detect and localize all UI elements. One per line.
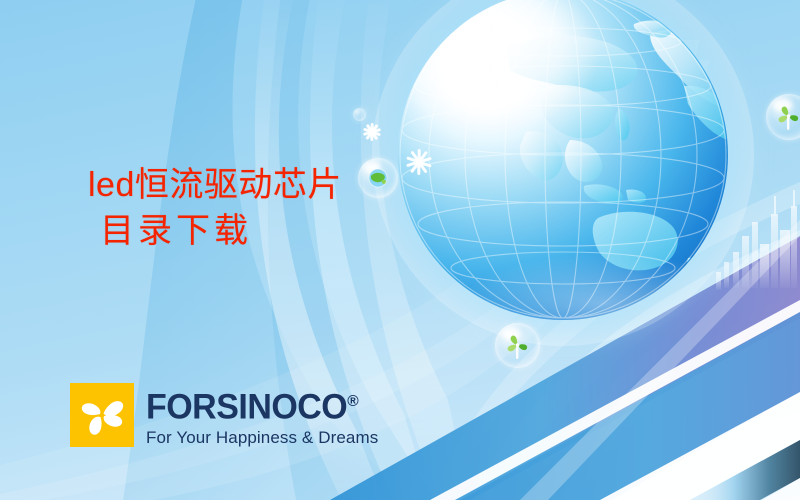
registered-mark: ® [347,393,358,410]
bubble-with-windmill-icon [495,323,540,368]
company-logo[interactable]: FORSINOCO® For Your Happiness & Dreams [70,383,378,448]
earth-globe-graphic [398,0,728,320]
page-title: led恒流驱动芯片 目录下载 [88,165,342,251]
bubble-with-windmill-icon [766,94,800,140]
brand-tagline: For Your Happiness & Dreams [146,428,378,448]
headline-line-2: 目录下载 [100,211,342,251]
brand-name: FORSINOCO® [146,383,371,427]
daisy-icon [405,148,433,176]
daisy-icon [362,122,382,142]
banner-canvas: led恒流驱动芯片 目录下载 FORSINOCO® For Your Happi… [0,0,800,500]
brand-word: FORSINOCO [146,388,347,427]
headline-latin: led [88,166,135,204]
four-petal-flower-icon [70,383,134,447]
bubble-icon [353,108,366,121]
headline-cjk: 恒流驱动芯片 [135,165,342,205]
headline-line-1: led恒流驱动芯片 [88,165,342,205]
logo-text-block: FORSINOCO® For Your Happiness & Dreams [146,383,378,448]
